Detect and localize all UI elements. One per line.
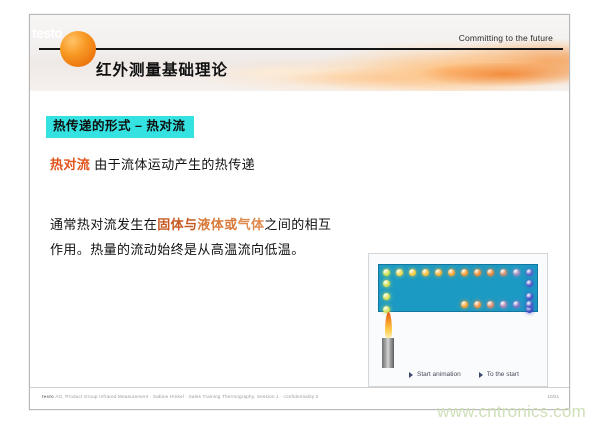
animation-controls: Start animation To the start	[409, 371, 519, 378]
start-animation-label: Start animation	[417, 371, 461, 378]
material-gas: 气体	[238, 217, 265, 232]
to-the-start-button[interactable]: To the start	[479, 371, 519, 378]
particle-dot	[474, 269, 481, 276]
particle-dot	[383, 269, 390, 276]
particle-dot	[422, 269, 429, 276]
particle-dot	[513, 269, 520, 276]
particle-dot	[526, 293, 533, 300]
particle-dot	[526, 301, 533, 308]
section-heading: 热传递的形式 – 热对流	[46, 116, 194, 138]
particle-dot	[461, 301, 468, 308]
particle-dot	[461, 269, 468, 276]
header-tagline: Committing to the future	[459, 33, 553, 43]
definition-text: 由于流体运动产生的热传递	[94, 157, 255, 172]
to-the-start-label: To the start	[487, 371, 519, 378]
slide-body: 热传递的形式 – 热对流 热对流由于流体运动产生的热传递 通常热对流发生在固体与…	[30, 91, 569, 387]
footer-page-number: 10/21	[548, 394, 560, 399]
particle-dot	[409, 269, 416, 276]
definition-term: 热对流	[50, 157, 90, 172]
particle-dot	[526, 269, 533, 276]
start-animation-button[interactable]: Start animation	[409, 371, 461, 378]
material-liquid: 液体或	[197, 217, 237, 232]
explanation-part-3: 作用。热量的流动始终是从高温流向低温。	[50, 242, 305, 257]
play-triangle-icon	[409, 372, 413, 378]
site-watermark: www.cntronics.com	[437, 402, 586, 422]
particle-dot	[448, 269, 455, 276]
particle-dot	[526, 280, 533, 287]
particle-dot	[383, 280, 390, 287]
material-solid: 固体与	[157, 217, 197, 232]
particle-dot	[474, 301, 481, 308]
particle-dot	[487, 269, 494, 276]
particle-dot	[383, 293, 390, 300]
particle-dot	[513, 301, 520, 308]
fluid-vessel	[378, 264, 538, 312]
particle-dot	[500, 301, 507, 308]
footer-brand: testo	[42, 394, 54, 399]
particle-dot	[396, 269, 403, 276]
page-title: 红外测量基础理论	[96, 58, 228, 80]
burner-icon	[382, 338, 394, 368]
particle-dot	[487, 301, 494, 308]
particle-dot	[500, 269, 507, 276]
convection-animation-panel[interactable]: Start animation To the start	[368, 253, 548, 387]
explanation-part-1: 通常热对流发生在	[50, 217, 157, 232]
slide-frame: Committing to the future testo 红外测量基础理论 …	[29, 14, 570, 410]
header-divider-rule	[39, 48, 563, 50]
particle-dot	[435, 269, 442, 276]
explanation-paragraph: 通常热对流发生在固体与液体或气体之间的相互作用。热量的流动始终是从高温流向低温。	[50, 212, 380, 263]
explanation-part-2: 之间的相互	[264, 217, 331, 232]
footer-credit: testo AG, Product Group Infrared Measure…	[42, 394, 319, 399]
logo-wordmark: testo	[32, 27, 78, 41]
definition-paragraph: 热对流由于流体运动产生的热传递	[50, 154, 255, 173]
play-triangle-icon	[479, 372, 483, 378]
flame-icon	[385, 312, 392, 340]
footer-details: AG, Product Group Infrared Measurement ·…	[54, 394, 319, 399]
